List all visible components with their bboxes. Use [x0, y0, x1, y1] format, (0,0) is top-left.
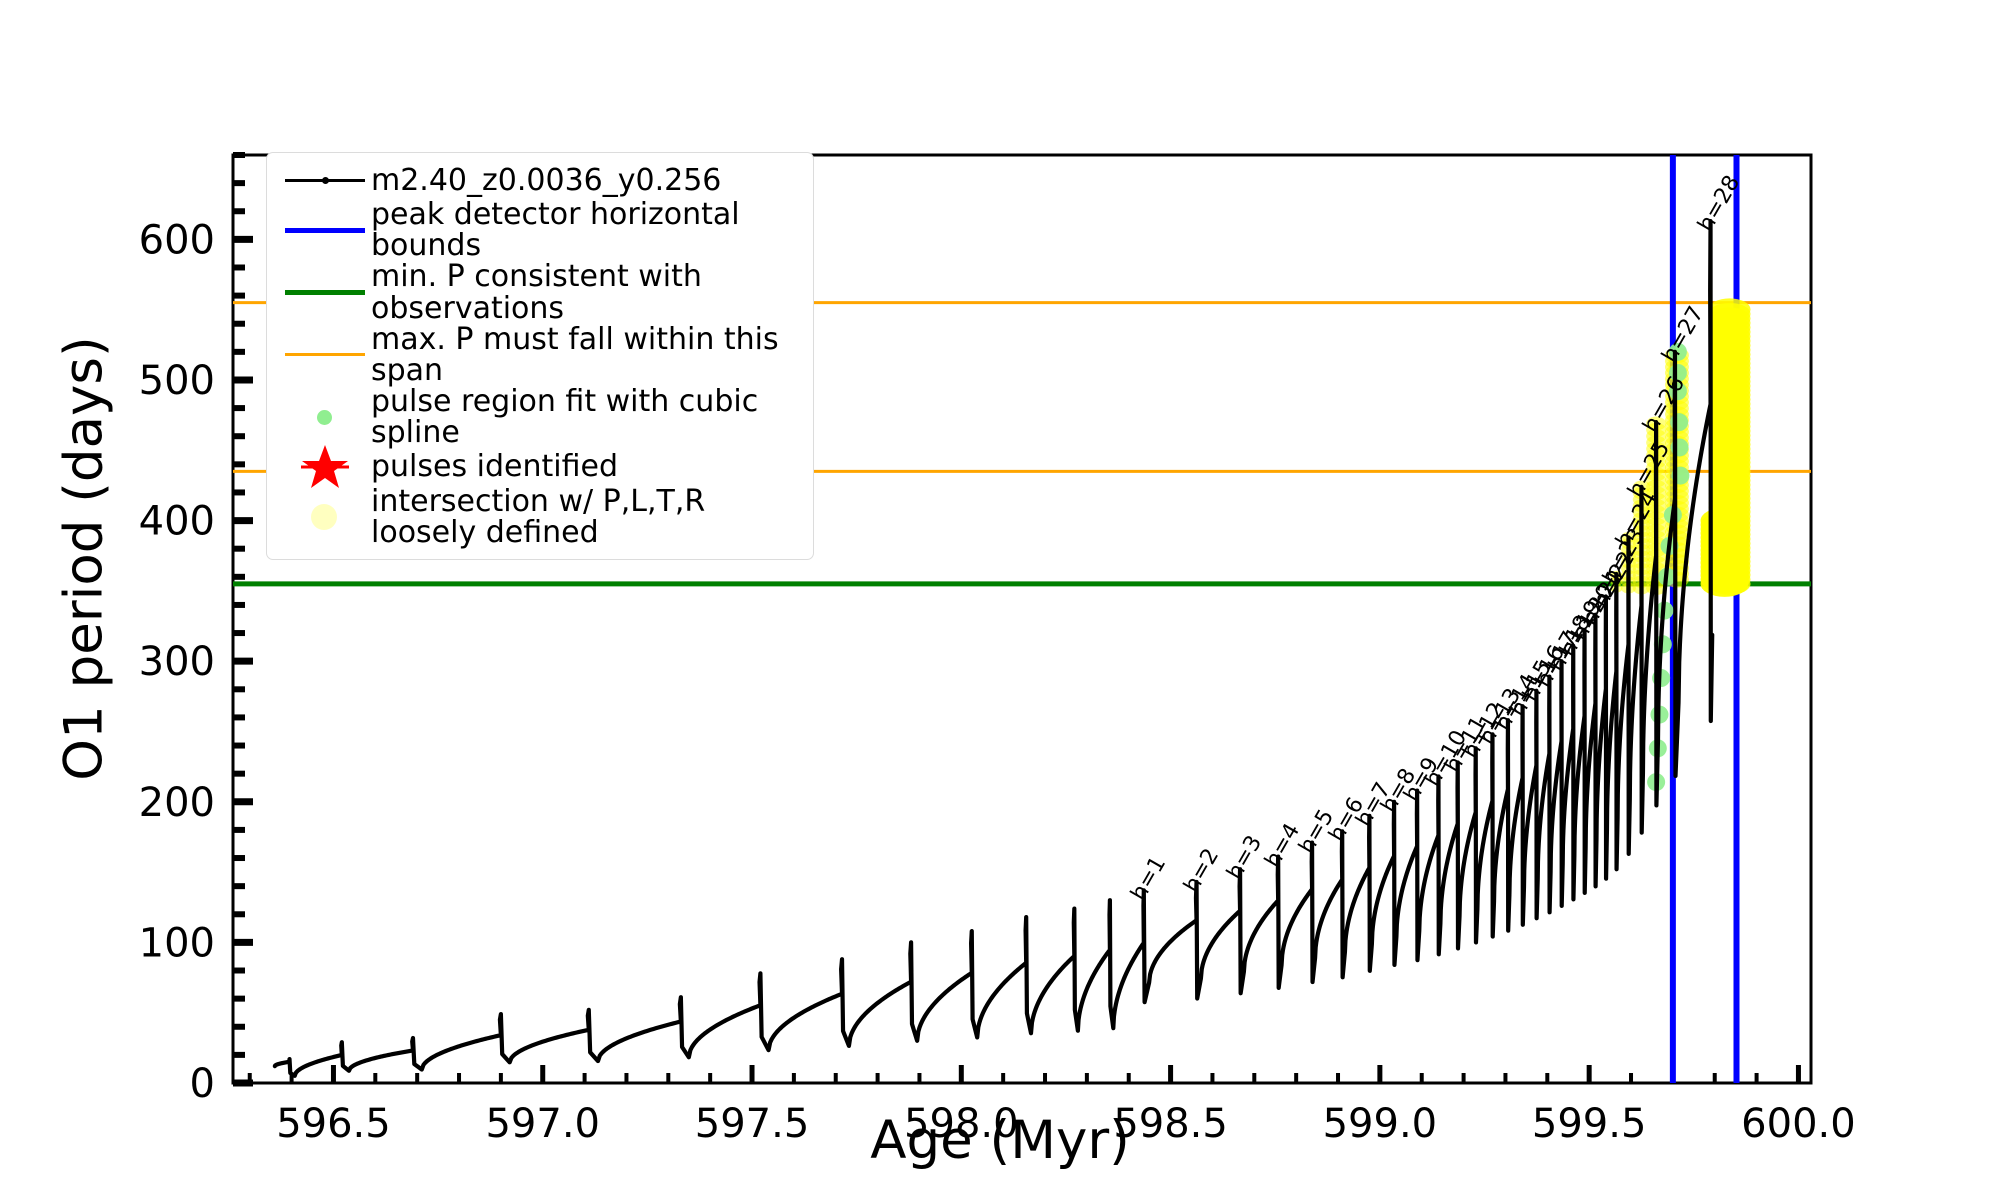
legend-item[interactable]: pulses identified: [279, 449, 801, 486]
legend: m2.40_z0.0036_y0.256peak detector horizo…: [266, 152, 814, 560]
svg-text:600: 600: [139, 217, 215, 263]
legend-key-line-icon: [279, 336, 371, 373]
legend-item-label: max. P must fall within this span: [371, 324, 801, 386]
legend-key-line-icon: [279, 212, 371, 249]
x-axis-label: Age (Myr): [0, 1110, 2000, 1171]
legend-item-label: m2.40_z0.0036_y0.256: [371, 165, 721, 196]
legend-item-label: peak detector horizontal bounds: [371, 199, 801, 261]
svg-text:400: 400: [139, 499, 215, 545]
legend-key-dot-icon: [279, 498, 371, 535]
legend-key-star-icon: [279, 449, 371, 486]
legend-item-label: intersection w/ P,L,T,R loosely defined: [371, 486, 705, 548]
svg-text:500: 500: [139, 358, 215, 404]
svg-text:300: 300: [139, 639, 215, 685]
legend-item[interactable]: peak detector horizontal bounds: [279, 199, 801, 261]
svg-text:100: 100: [139, 920, 215, 966]
legend-item[interactable]: m2.40_z0.0036_y0.256: [279, 162, 801, 199]
legend-item-label: pulses identified: [371, 451, 618, 482]
legend-item-label: pulse region fit with cubic spline: [371, 386, 801, 448]
legend-key-dot-icon: [279, 399, 371, 436]
legend-key-line-marker-icon: [279, 162, 371, 199]
legend-item[interactable]: min. P consistent with observations: [279, 261, 801, 323]
svg-text:200: 200: [139, 780, 215, 826]
legend-key-line-icon: [279, 274, 371, 311]
legend-item[interactable]: pulse region fit with cubic spline: [279, 386, 801, 448]
legend-item-label: min. P consistent with observations: [371, 261, 801, 323]
svg-text:0: 0: [190, 1061, 215, 1107]
legend-item[interactable]: max. P must fall within this span: [279, 324, 801, 386]
figure-canvas: 596.5597.0597.5598.0598.5599.0599.5600.0…: [0, 0, 2000, 1200]
legend-item[interactable]: intersection w/ P,L,T,R loosely defined: [279, 486, 801, 548]
y-axis-label: O1 period (days): [54, 279, 115, 839]
